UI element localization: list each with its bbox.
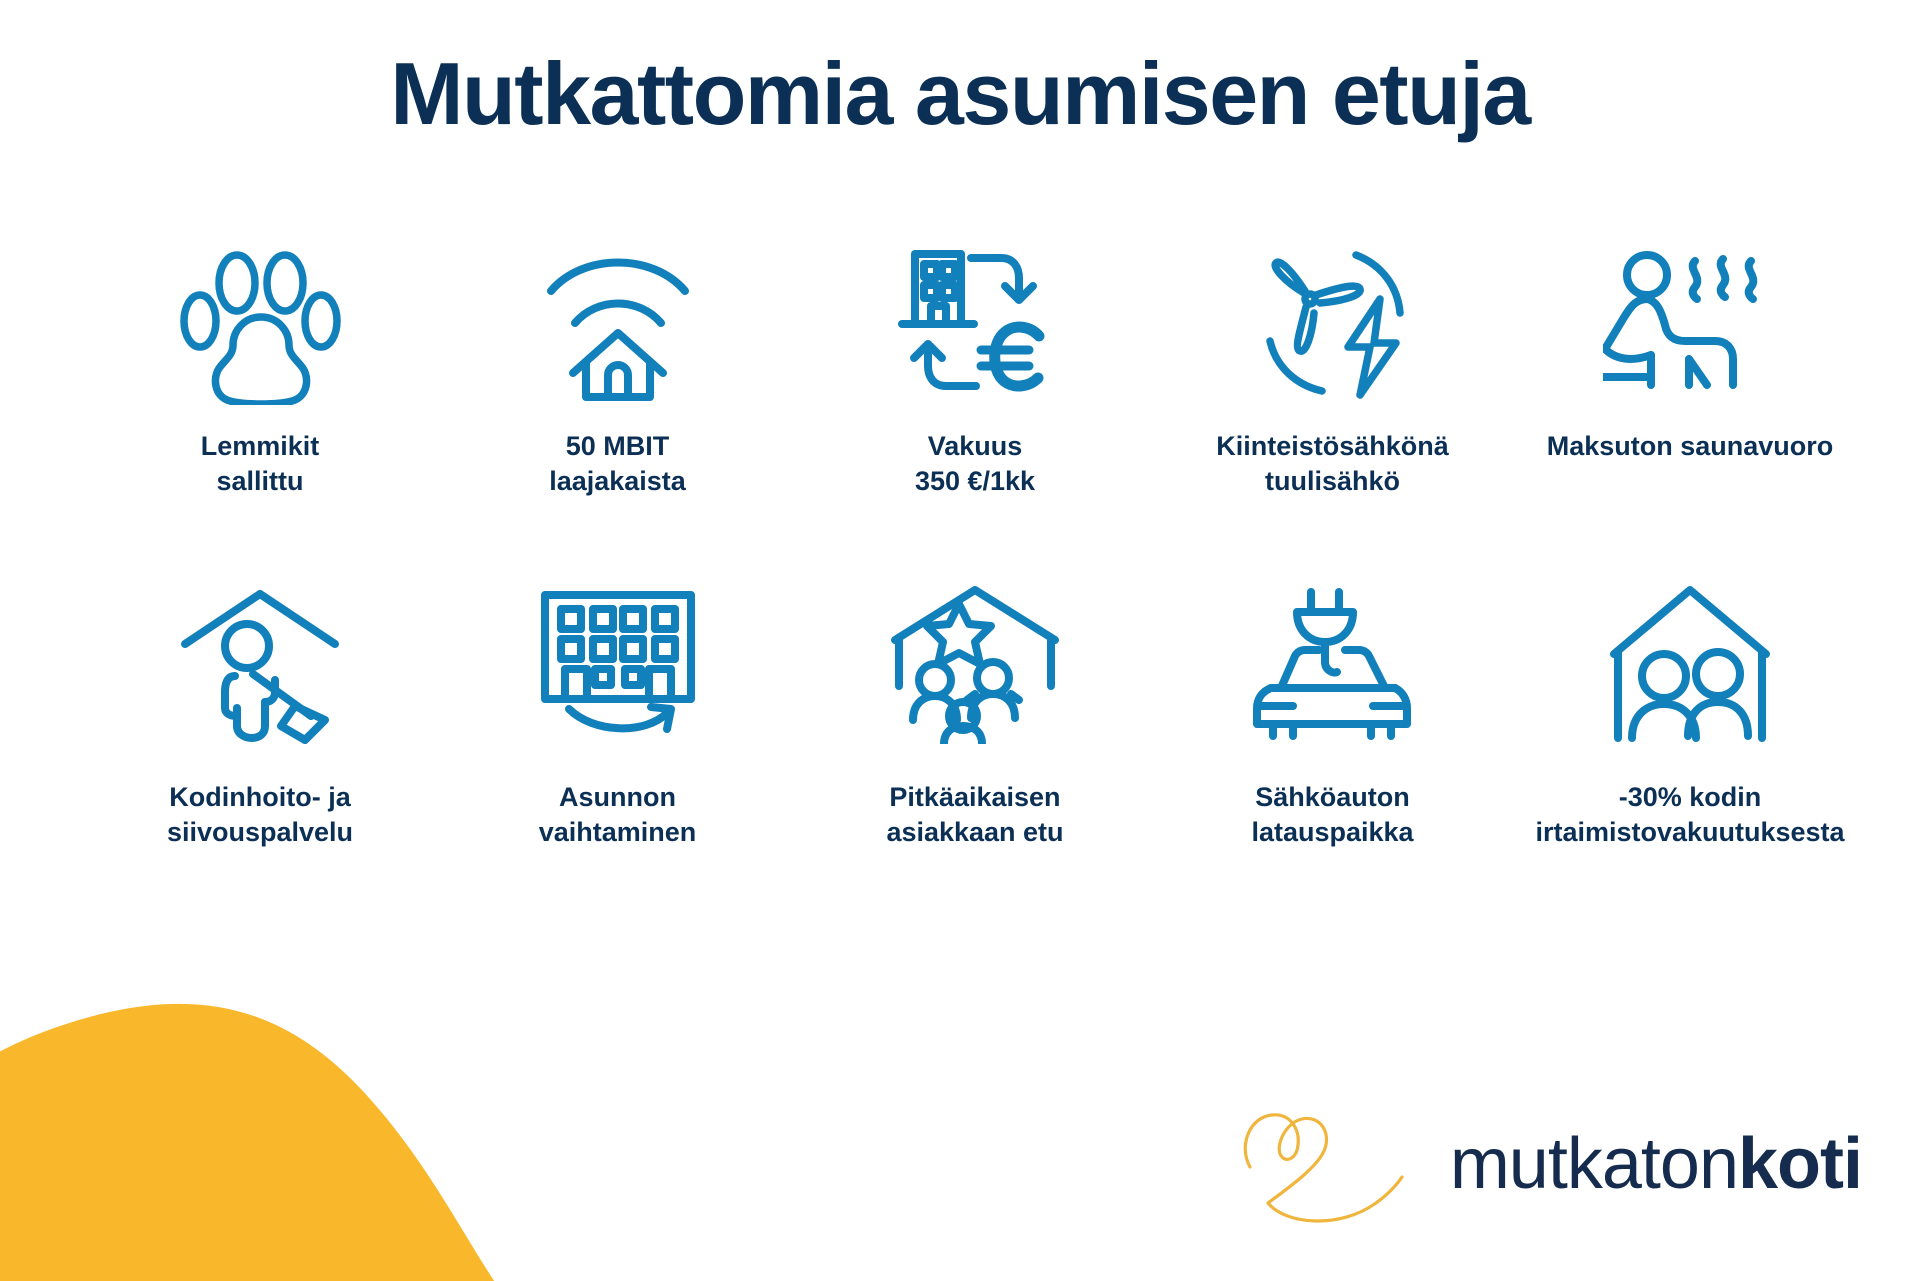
house-two-people-icon (1604, 574, 1776, 754)
benefit-label: -30% kodin irtaimistovakuutuksesta (1535, 780, 1844, 849)
benefit-item-ev-charging: Sähköauton latauspaikka (1163, 574, 1503, 849)
benefit-label: Lemmikit sallittu (201, 429, 320, 498)
benefit-item-deposit: Vakuus 350 €/1kk (805, 235, 1145, 498)
benefit-label: Asunnon vaihtaminen (539, 780, 697, 849)
benefit-item-loyalty: Pitkäaikaisen asiakkaan etu (805, 574, 1145, 849)
benefit-label: Vakuus 350 €/1kk (915, 429, 1035, 498)
sauna-person-icon (1603, 235, 1778, 415)
heart-swoosh-icon (1240, 1099, 1440, 1229)
benefit-label: Kiinteistösähkönä tuulisähkö (1216, 429, 1449, 498)
benefits-grid: Lemmikit sallittu 50 MBIT laajakaista (90, 235, 1860, 849)
apartment-swap-icon (533, 574, 703, 754)
building-euro-icon (888, 235, 1063, 415)
cleaning-person-icon (175, 574, 345, 754)
benefit-label: Pitkäaikaisen asiakkaan etu (886, 780, 1063, 849)
logo-text-bold: koti (1738, 1124, 1862, 1204)
benefits-row-2: Kodinhoito- ja siivouspalvelu (90, 574, 1860, 849)
yellow-blob-decoration (0, 960, 700, 1281)
benefit-label: Kodinhoito- ja siivouspalvelu (167, 780, 353, 849)
brand-logo: mutkatonkoti (1240, 1099, 1862, 1229)
logo-wordmark: mutkatonkoti (1450, 1128, 1862, 1200)
logo-text-light: mutkaton (1450, 1124, 1738, 1204)
benefit-item-wind-power: Kiinteistösähkönä tuulisähkö (1163, 235, 1503, 498)
car-plug-icon (1249, 574, 1417, 754)
benefits-row-1: Lemmikit sallittu 50 MBIT laajakaista (90, 235, 1860, 498)
wifi-house-icon (533, 235, 703, 415)
benefit-item-cleaning: Kodinhoito- ja siivouspalvelu (90, 574, 430, 849)
benefit-label: 50 MBIT laajakaista (549, 429, 686, 498)
benefit-item-apartment-swap: Asunnon vaihtaminen (448, 574, 788, 849)
page-title: Mutkattomia asumisen etuja (0, 48, 1920, 140)
wind-turbine-bolt-icon (1248, 235, 1418, 415)
paw-print-icon (178, 235, 343, 415)
benefit-item-sauna: Maksuton saunavuoro (1520, 235, 1860, 464)
benefit-item-broadband: 50 MBIT laajakaista (448, 235, 788, 498)
benefit-label: Maksuton saunavuoro (1547, 429, 1834, 464)
benefit-item-pets: Lemmikit sallittu (90, 235, 430, 498)
benefit-item-insurance: -30% kodin irtaimistovakuutuksesta (1520, 574, 1860, 849)
infographic-page: Mutkattomia asumisen etuja Lemmikit sall… (0, 0, 1920, 1281)
house-star-family-icon (889, 574, 1061, 754)
benefit-label: Sähköauton latauspaikka (1251, 780, 1413, 849)
